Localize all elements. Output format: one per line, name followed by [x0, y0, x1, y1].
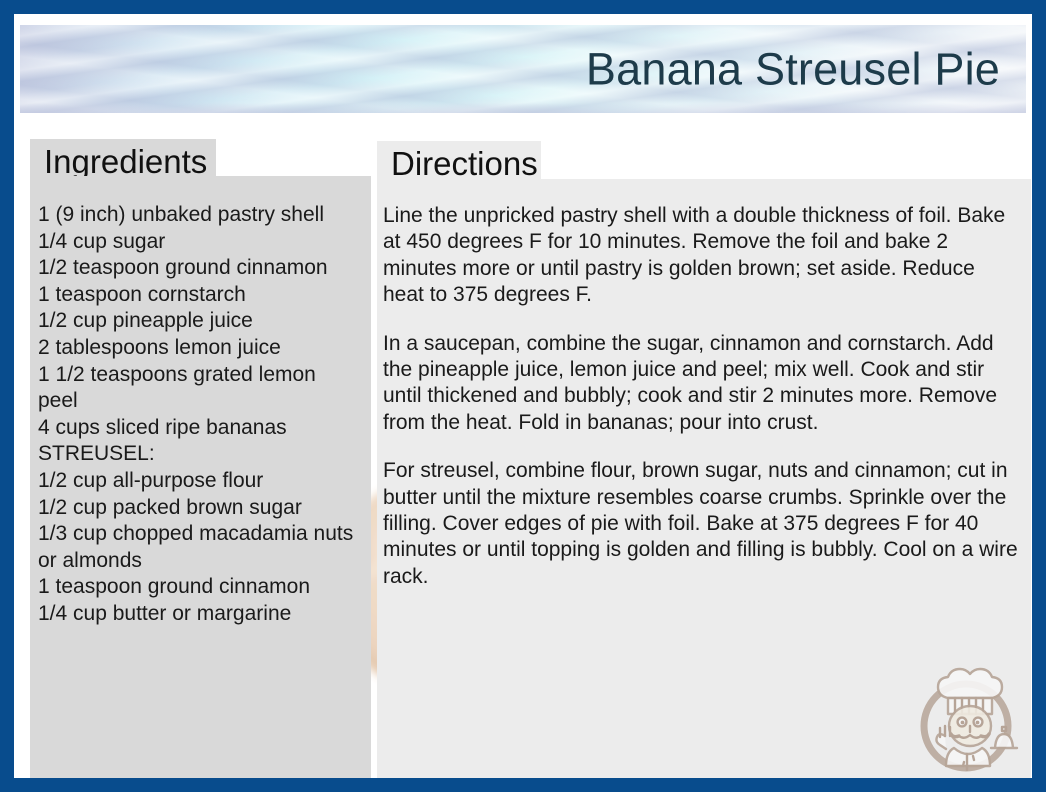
- header-banner: Banana Streusel Pie: [20, 25, 1026, 113]
- directions-heading-label: Directions: [391, 145, 538, 183]
- direction-paragraph: Line the unpricked pastry shell with a d…: [383, 203, 1021, 309]
- direction-paragraph: In a saucepan, combine the sugar, cinnam…: [383, 331, 1021, 437]
- ingredient-item: 1 1/2 teaspoons grated lemon peel: [38, 362, 357, 415]
- ingredient-item: 1/4 cup sugar: [38, 229, 357, 256]
- ingredient-item: 1/2 cup all-purpose flour: [38, 468, 357, 495]
- directions-text: Line the unpricked pastry shell with a d…: [383, 203, 1021, 590]
- ingredient-item: STREUSEL:: [38, 441, 357, 468]
- ingredients-list: 1 (9 inch) unbaked pastry shell1/4 cup s…: [38, 202, 357, 628]
- ingredient-item: 1 teaspoon ground cinnamon: [38, 574, 357, 601]
- ingredient-item: 1/2 cup pineapple juice: [38, 308, 357, 335]
- ingredients-panel: 1 (9 inch) unbaked pastry shell1/4 cup s…: [30, 176, 371, 792]
- ingredient-item: 1/3 cup chopped macadamia nuts or almond…: [38, 521, 357, 574]
- ingredient-item: 1 (9 inch) unbaked pastry shell: [38, 202, 357, 229]
- ingredient-item: 2 tablespoons lemon juice: [38, 335, 357, 362]
- ingredient-item: 1/2 cup packed brown sugar: [38, 495, 357, 522]
- page-title: Banana Streusel Pie: [586, 45, 1000, 92]
- direction-paragraph: For streusel, combine flour, brown sugar…: [383, 458, 1021, 590]
- card-inner: Banana Streusel Pie: [14, 14, 1032, 778]
- ingredient-item: 1/2 teaspoon ground cinnamon: [38, 255, 357, 282]
- ingredient-item: 4 cups sliced ripe bananas: [38, 415, 357, 442]
- directions-panel: Line the unpricked pastry shell with a d…: [377, 179, 1031, 792]
- ingredient-item: 1 teaspoon cornstarch: [38, 282, 357, 309]
- ingredient-item: 1/4 cup butter or margarine: [38, 601, 357, 628]
- recipe-card: Banana Streusel Pie: [0, 0, 1046, 792]
